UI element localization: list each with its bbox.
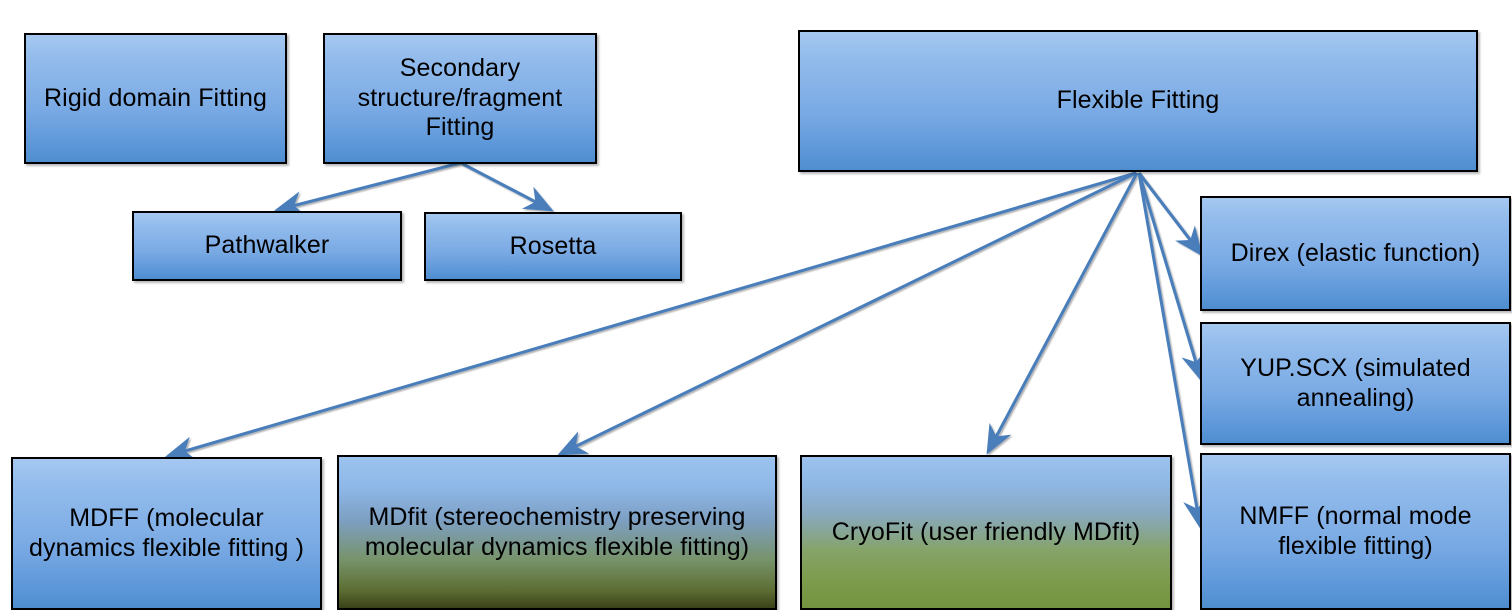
diagram-canvas: Rigid domain Fitting Secondary structure…	[0, 0, 1512, 610]
node-label: Rosetta	[434, 232, 672, 262]
node-label: NMFF (normal mode flexible fitting)	[1210, 502, 1501, 561]
node-label: Secondary structure/fragment Fitting	[333, 54, 587, 143]
edge-flexible-to-cryofit	[988, 173, 1137, 452]
node-nmff[interactable]: NMFF (normal mode flexible fitting)	[1200, 453, 1511, 610]
node-secondary-structure-fragment-fitting[interactable]: Secondary structure/fragment Fitting	[323, 33, 597, 164]
node-label: Direx (elastic function)	[1210, 239, 1501, 269]
node-rosetta[interactable]: Rosetta	[424, 212, 682, 281]
node-rigid-domain-fitting[interactable]: Rigid domain Fitting	[24, 33, 287, 164]
node-label: Pathwalker	[142, 231, 392, 261]
node-yup-scx[interactable]: YUP.SCX (simulated annealing)	[1200, 322, 1511, 445]
node-mdfit[interactable]: MDfit (stereochemistry preserving molecu…	[337, 455, 777, 610]
edge-flexible-to-yupscx	[1139, 173, 1201, 379]
node-label: CryoFit (user friendly MDfit)	[810, 518, 1162, 548]
node-pathwalker[interactable]: Pathwalker	[132, 211, 402, 281]
edge-flexible-to-direx	[1139, 173, 1201, 254]
node-label: Flexible Fitting	[808, 86, 1468, 116]
node-flexible-fitting[interactable]: Flexible Fitting	[798, 30, 1478, 172]
node-label: YUP.SCX (simulated annealing)	[1210, 354, 1501, 413]
edge-secondary-to-rosetta	[461, 163, 551, 210]
edge-secondary-to-pathwalker	[277, 163, 460, 210]
node-label: MDfit (stereochemistry preserving molecu…	[347, 503, 767, 562]
node-label: Rigid domain Fitting	[34, 84, 277, 114]
node-cryofit[interactable]: CryoFit (user friendly MDfit)	[800, 455, 1172, 610]
node-direx[interactable]: Direx (elastic function)	[1200, 196, 1511, 311]
node-mdff[interactable]: MDFF (molecular dynamics flexible fittin…	[11, 457, 322, 610]
node-label: MDFF (molecular dynamics flexible fittin…	[21, 504, 312, 563]
